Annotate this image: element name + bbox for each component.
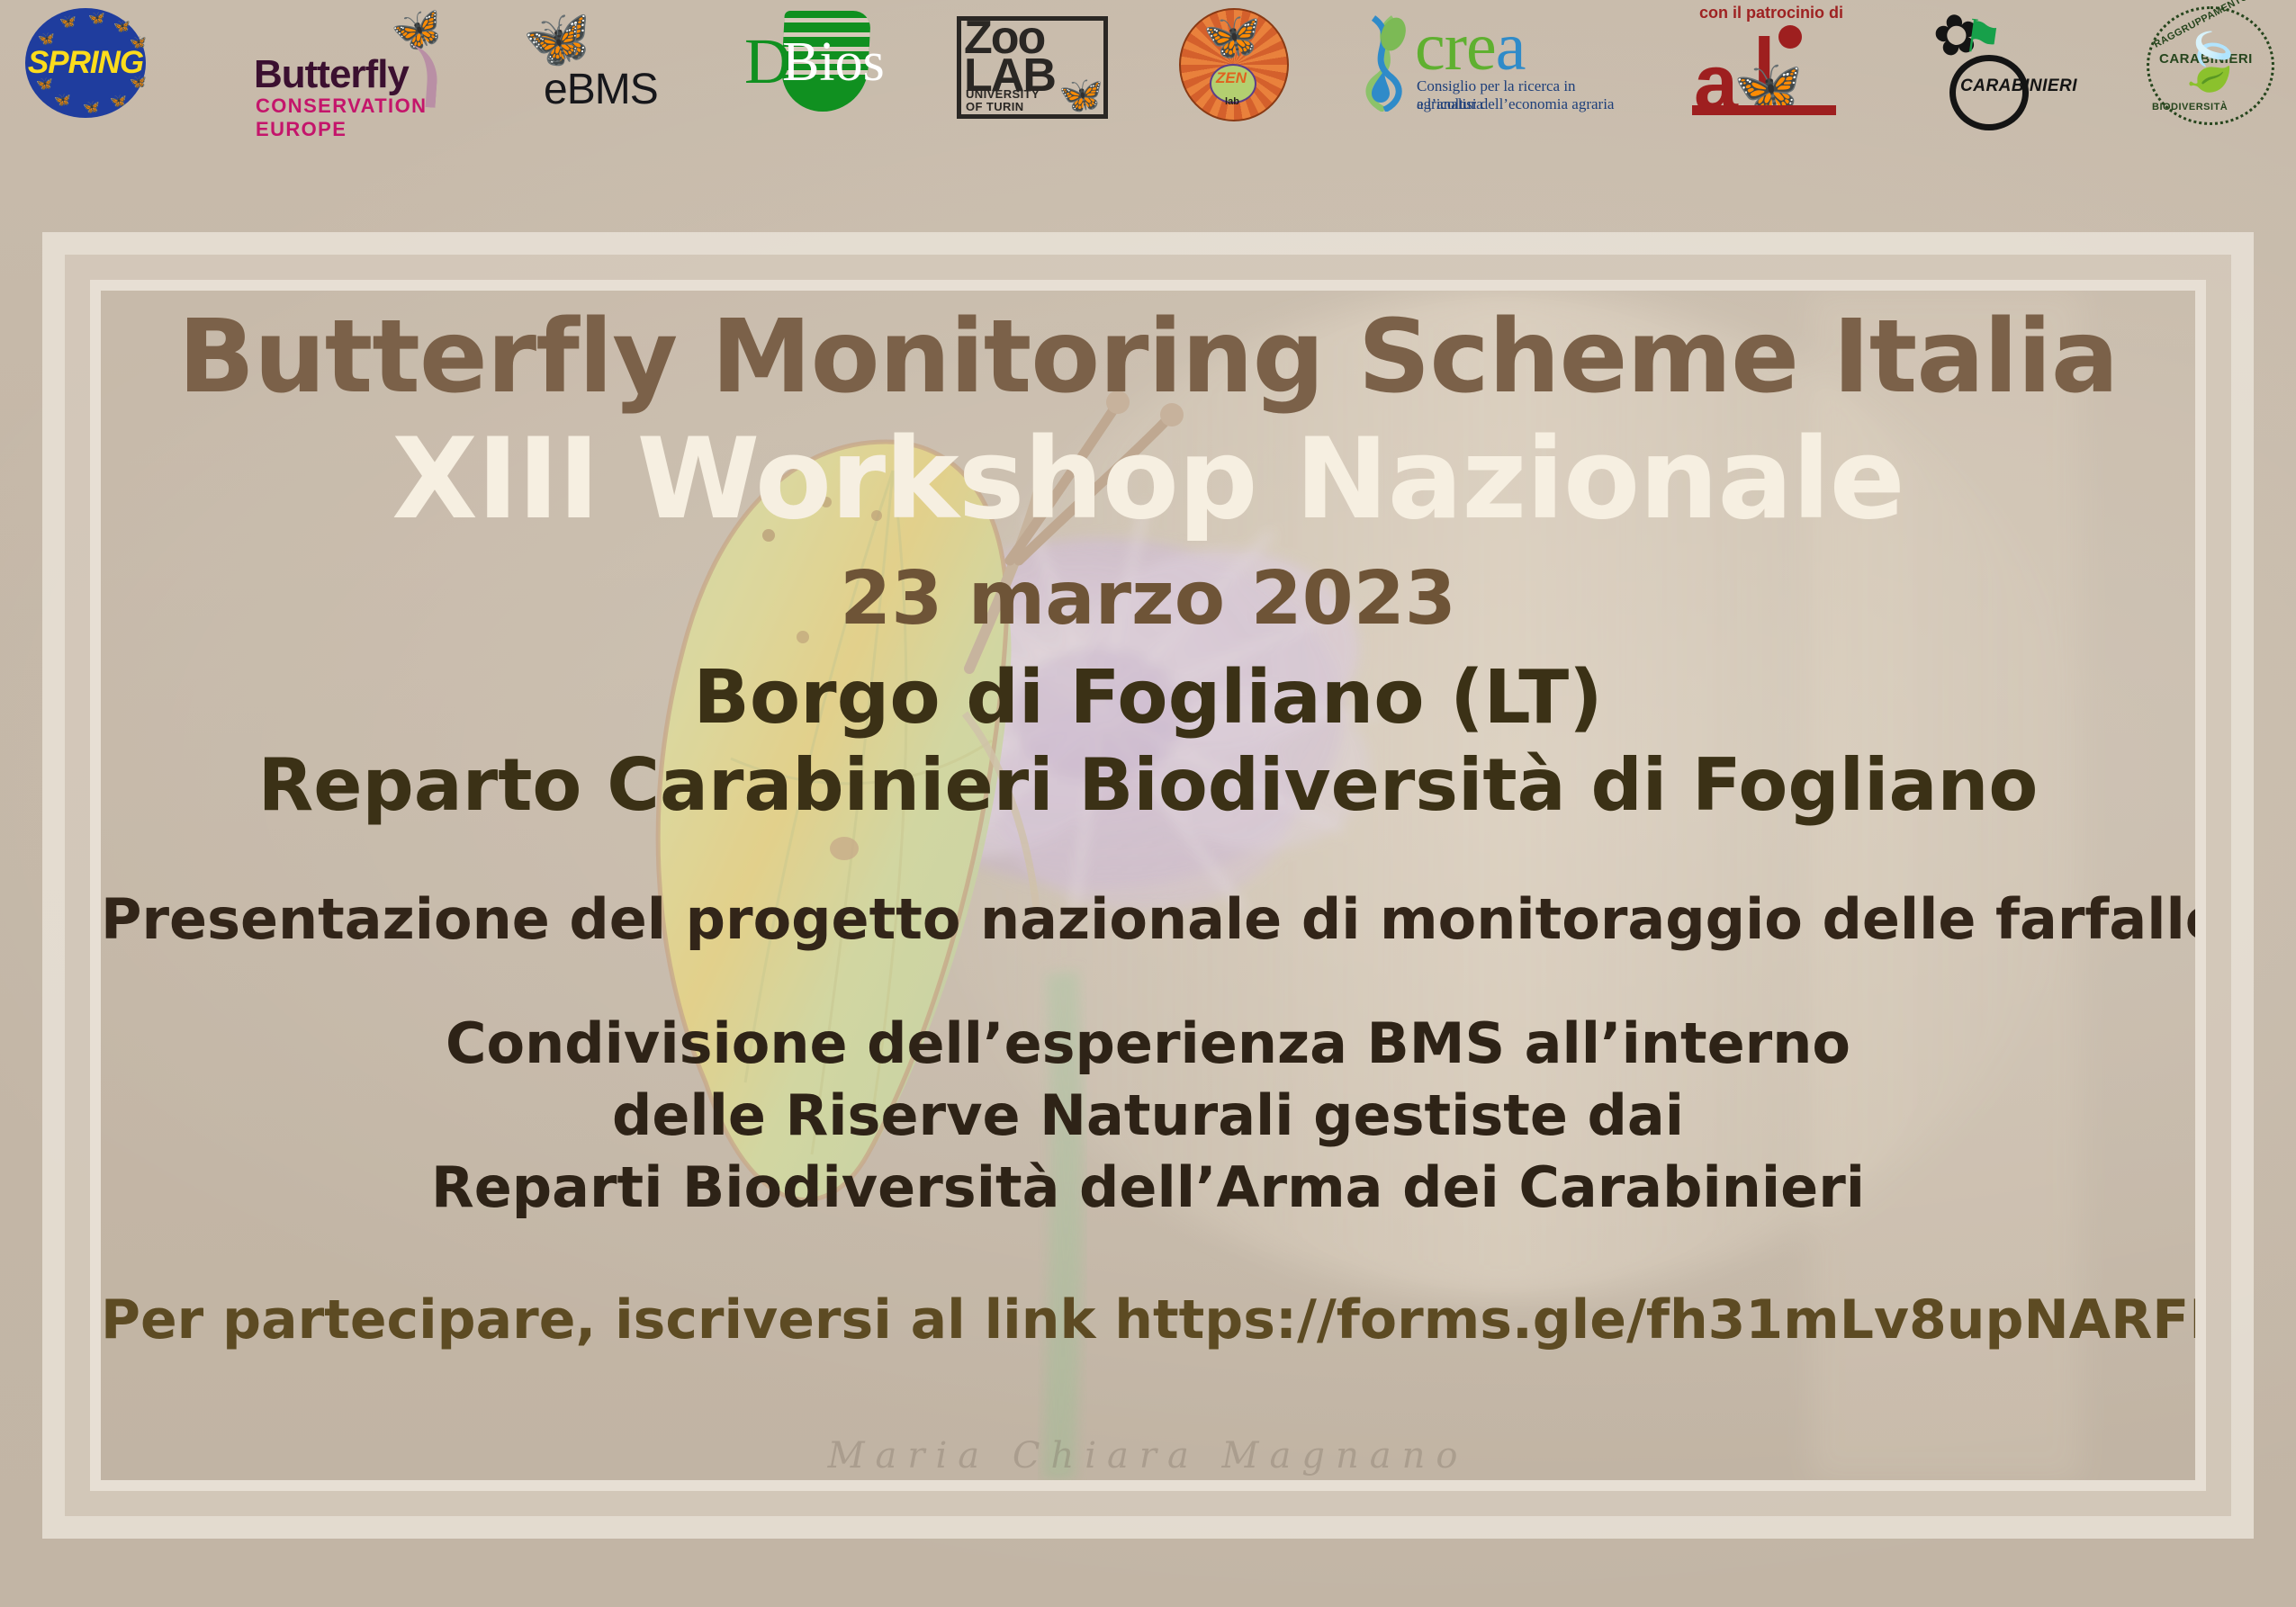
zen-logo-text: ZEN [1210, 69, 1253, 87]
butterfly-conservation-europe-logo: 🦋 Butterfly CONSERVATION EUROPE [248, 7, 455, 120]
dbios-logo-text: Bios [782, 34, 885, 90]
event-body-line-3: Reparti Biodiversità dell’Arma dei Carab… [101, 1160, 2195, 1216]
butterfly-glyph: 🦋 [38, 32, 55, 46]
crea-subtitle-line2: e l’analisi dell’economia agraria [1417, 95, 1614, 113]
page-title: Butterfly Monitoring Scheme Italia [101, 307, 2195, 408]
butterfly-glyph: 🦋 [54, 94, 71, 107]
event-description: Presentazione del progetto nazionale di … [101, 892, 2195, 947]
event-body-line-2: delle Riserve Naturali gestiste dai [101, 1088, 2195, 1144]
ebms-logo: 🦋 🦋 eBMS [520, 9, 678, 117]
sponsor-logo-bar: 🦋 🦋 🦋 🦋 🦋 🦋 🦋 🦋 🦋 🦋 SPRING 🦋 Butterfly C… [0, 0, 2296, 126]
raggruppamento-biodiversita-logo: RAGGRUPPAMENTO CARABINIERI BIODIVERSITÀ … [2139, 3, 2276, 123]
spring-logo: 🦋 🦋 🦋 🦋 🦋 🦋 🦋 🦋 🦋 🦋 SPRING [13, 4, 184, 122]
dna-helix-icon [1357, 14, 1413, 112]
butterfly-glyph: 🦋 [83, 101, 100, 114]
leaf-icon: 🍃 [2175, 35, 2245, 91]
butterfly-glyph: 🦋 [113, 20, 131, 33]
poster-text-block: Butterfly Monitoring Scheme Italia XIII … [101, 291, 2195, 1480]
carabinieri-logo: ✿ ⚑ CARABINIERI [1926, 8, 2075, 118]
seal-text-bottom: BIODIVERSITÀ [2152, 102, 2228, 112]
registration-link[interactable]: Per partecipare, iscriversi al link http… [101, 1293, 2195, 1347]
event-body-line-1: Condivisione dell’esperienza BMS all’int… [101, 1016, 2195, 1072]
dbios-logo: D Bios [743, 7, 887, 120]
ebms-logo-text: eBMS [544, 65, 658, 114]
zen-lab-sublabel: lab [1174, 96, 1291, 107]
poster-body: Butterfly Monitoring Scheme Italia XIII … [101, 291, 2195, 1480]
ali-wordmark: a l 🦋 [1692, 25, 1847, 121]
patronage-label: con il patrocinio di [1681, 4, 1861, 22]
ali-dot [1778, 25, 1802, 49]
carabinieri-logo-text: CARABINIERI [1960, 76, 2077, 96]
poster-subtitle: XIII Workshop Nazionale [101, 424, 2195, 535]
crea-logo: crea Consiglio per la ricerca in agricol… [1355, 9, 1616, 117]
poster-canvas: 🦋 🦋 🦋 🦋 🦋 🦋 🦋 🦋 🦋 🦋 SPRING 🦋 Butterfly C… [0, 0, 2296, 1607]
zoolab-logo: Zoo LAB UNIVERSITYOF TURIN 🦋 [951, 9, 1109, 117]
butterfly-glyph: 🦋 [88, 12, 105, 25]
bce-logo-tagline: CONSERVATION EUROPE [256, 94, 455, 141]
event-date: 23 marzo 2023 [101, 562, 2195, 636]
zoolab-university-label: UNIVERSITYOF TURIN [966, 88, 1040, 112]
butterfly-glyph: 🦋 [110, 94, 127, 108]
ali-logo: con il patrocinio di a l 🦋 [1681, 4, 1861, 122]
ali-baseline-bar [1692, 105, 1836, 115]
event-organizer: Reparto Carabinieri Biodiversità di Fogl… [101, 750, 2195, 821]
spring-logo-text: SPRING [25, 45, 146, 81]
event-location: Borgo di Fogliano (LT) [101, 661, 2195, 735]
zen-lab-logo: 🦋 ZEN lab [1174, 6, 1291, 120]
bce-logo-name: Butterfly [254, 52, 409, 97]
crea-logo-text: crea [1415, 13, 1526, 81]
butterfly-fill-icon: 🦋 [528, 18, 585, 67]
butterfly-icon: 🦋 [1058, 77, 1103, 113]
butterfly-glyph: 🦋 [59, 15, 77, 29]
photographer-watermark: Maria Chiara Magnano [101, 1435, 2195, 1477]
moth-icon: 🦋 [1174, 13, 1291, 60]
